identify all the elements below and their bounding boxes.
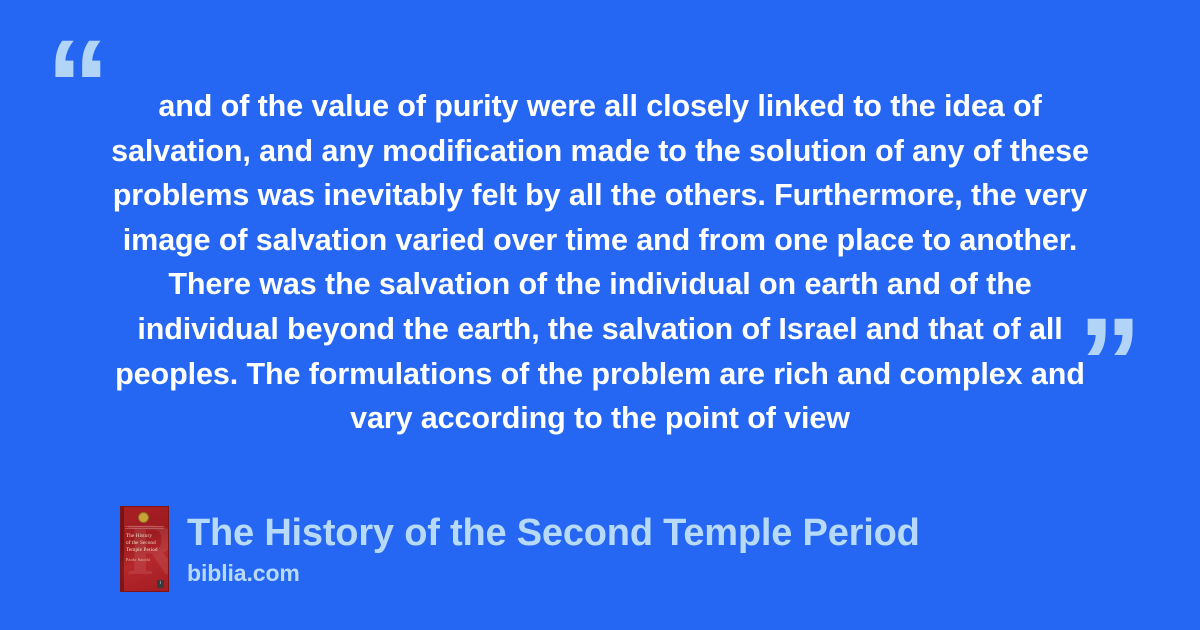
- cover-title-line-1: The History: [126, 533, 164, 540]
- cover-title-line-2: of the Second: [126, 540, 164, 547]
- cover-title-line-3: Temple Period: [126, 547, 164, 554]
- publisher-emblem-icon: [138, 512, 149, 523]
- closing-quote-mark-icon: ”: [1078, 300, 1140, 428]
- quote-card: “ and of the value of purity were all cl…: [0, 0, 1200, 630]
- cover-rule-bottom: [125, 528, 164, 529]
- book-spine: [121, 507, 124, 591]
- opening-quote-mark-icon: “: [46, 22, 108, 150]
- book-title: The History of the Second Temple Period: [187, 510, 920, 556]
- book-cover-thumbnail: R The History of the Second Temple Perio…: [120, 506, 169, 592]
- cover-author-text: Paolo Sacchi: [126, 557, 150, 562]
- footer-text-block: The History of the Second Temple Period …: [187, 506, 920, 588]
- site-name: biblia.com: [187, 558, 920, 588]
- cover-title-text: The History of the Second Temple Period: [126, 533, 164, 554]
- quote-text: and of the value of purity were all clos…: [108, 84, 1092, 441]
- publisher-logo-icon: t: [157, 580, 164, 588]
- quote-region: “ and of the value of purity were all cl…: [0, 0, 1200, 440]
- footer-attribution: R The History of the Second Temple Perio…: [120, 506, 920, 592]
- cover-rule-top: [125, 526, 164, 527]
